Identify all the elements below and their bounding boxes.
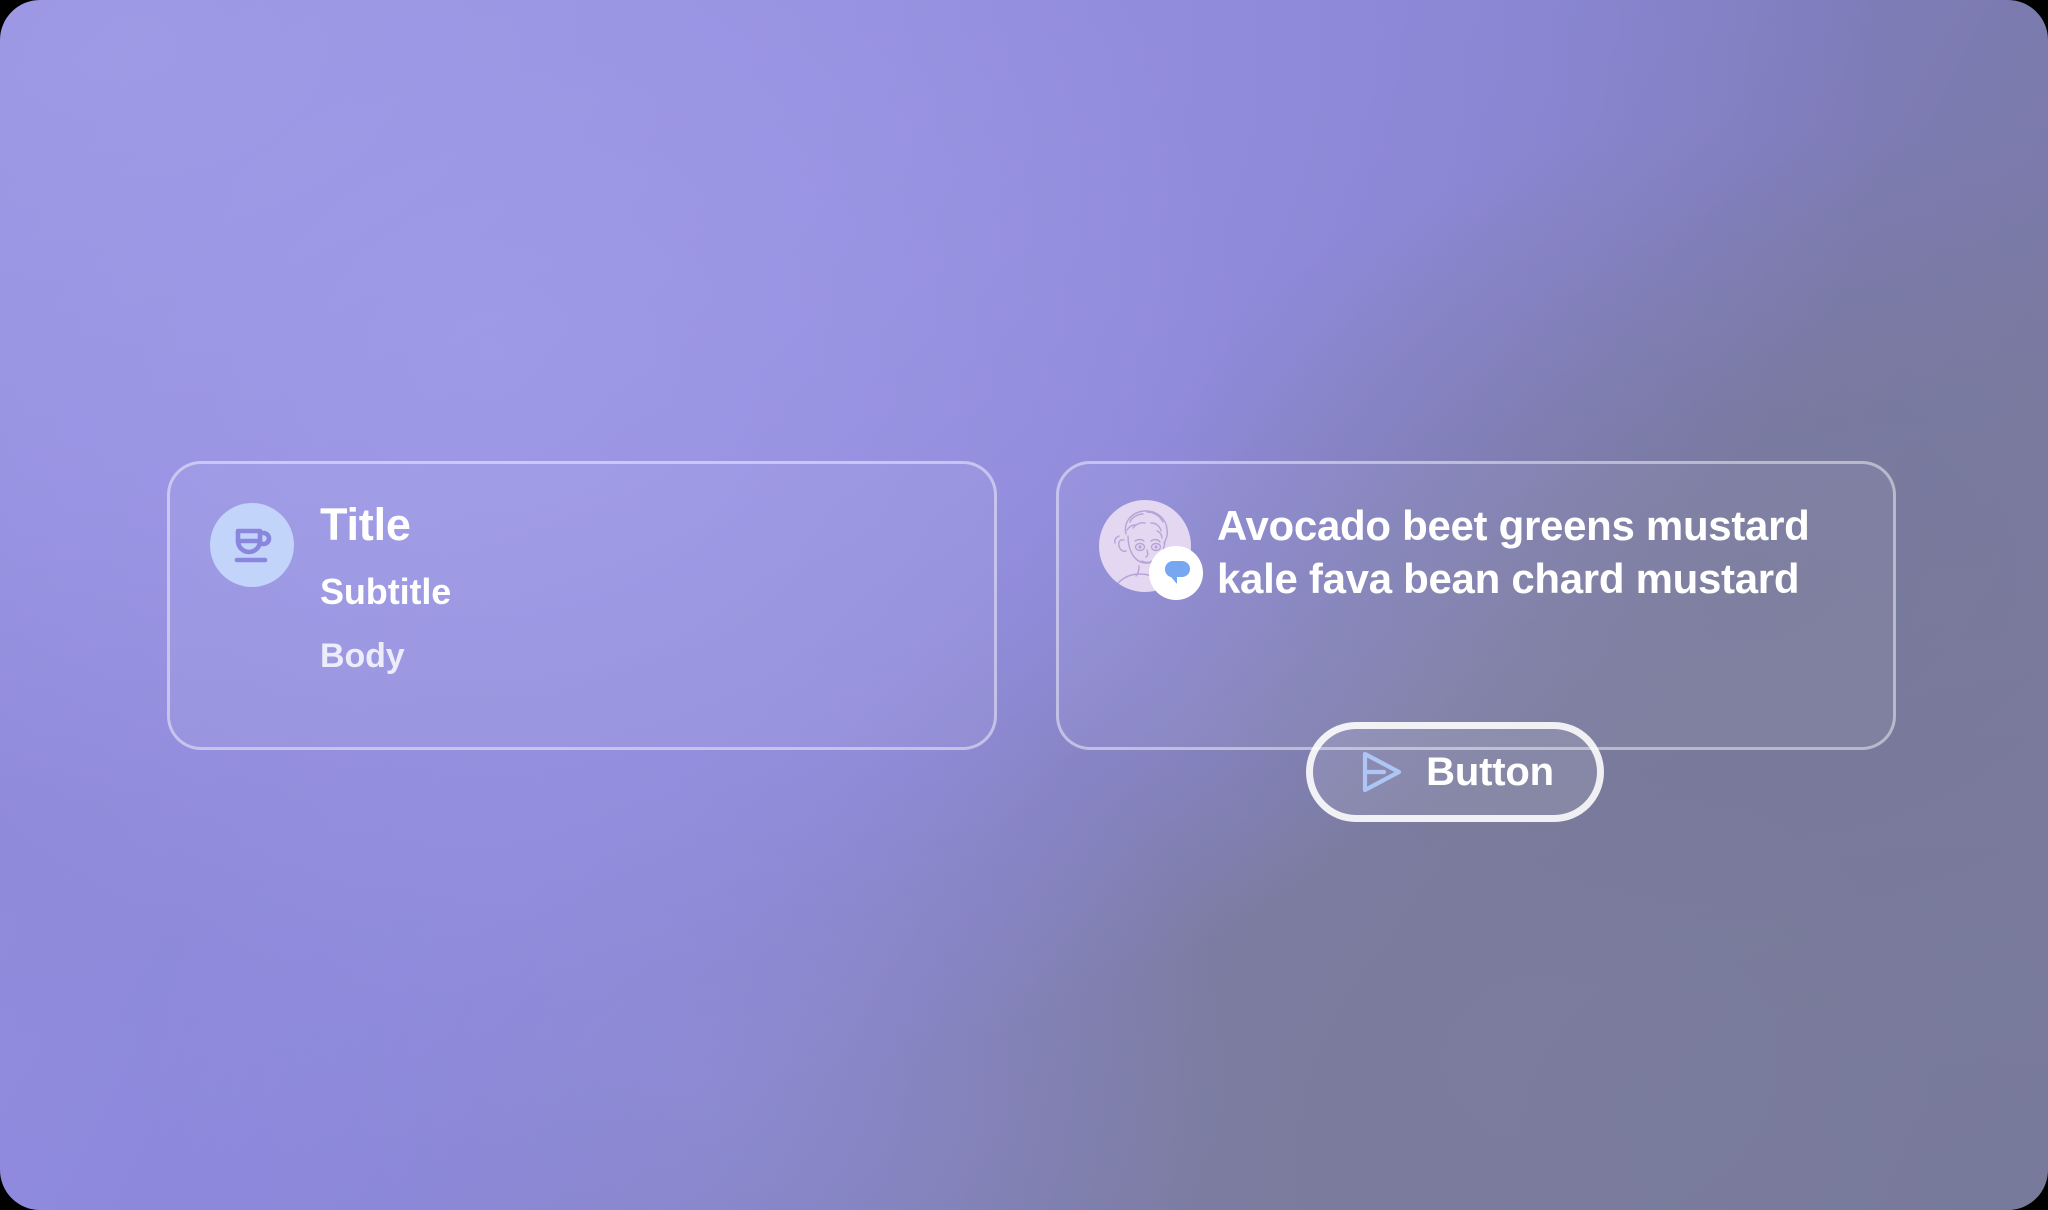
send-triangle-icon (1356, 747, 1406, 797)
info-card-left[interactable]: Title Subtitle Body (167, 461, 997, 750)
card-title: Title (320, 500, 451, 550)
card-headline: Avocado beet greens mustard kale fava be… (1217, 500, 1817, 606)
card-subtitle: Subtitle (320, 570, 451, 613)
coffee-cup-icon (210, 503, 294, 587)
avatar[interactable] (1099, 500, 1191, 592)
content-layer: Title Subtitle Body (0, 0, 2048, 1210)
chat-bubble-badge-icon (1149, 546, 1203, 600)
card-body: Body (320, 636, 451, 677)
canvas-root: Title Subtitle Body (0, 0, 2048, 1210)
left-card-text-column: Title Subtitle Body (320, 500, 451, 676)
send-button[interactable]: Button (1306, 722, 1604, 822)
info-card-right[interactable]: Avocado beet greens mustard kale fava be… (1056, 461, 1896, 750)
send-button-label: Button (1426, 752, 1554, 792)
